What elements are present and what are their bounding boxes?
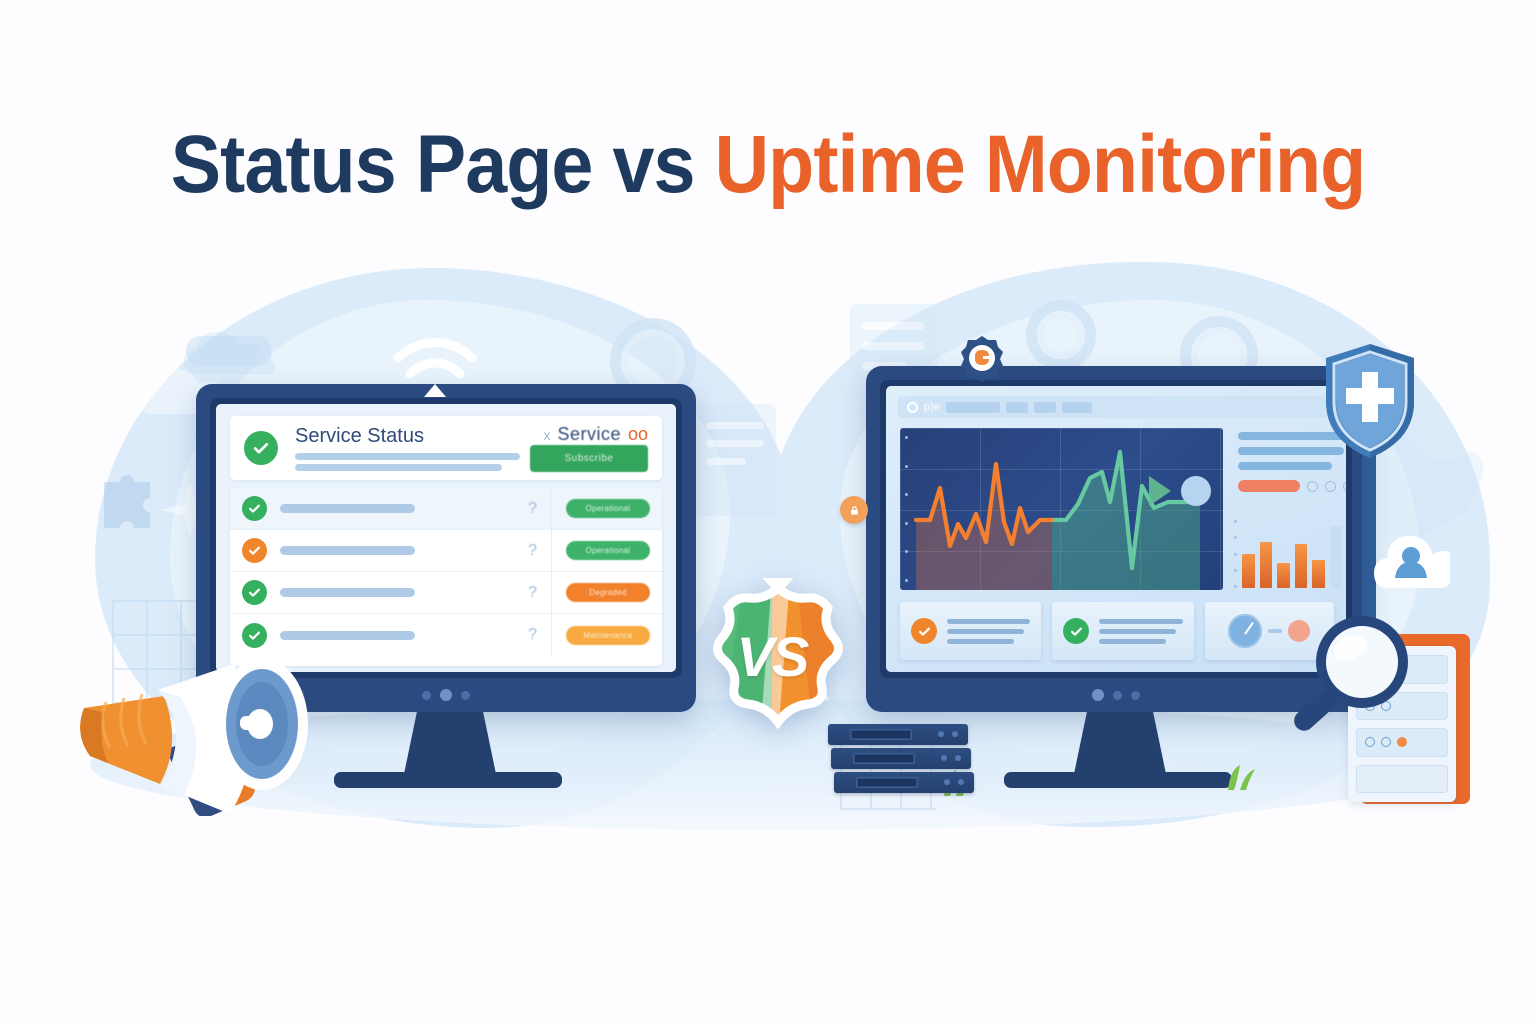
status-check-icon xyxy=(242,496,267,521)
skeleton-line xyxy=(1099,619,1182,624)
bar xyxy=(1277,563,1290,588)
server-led-icon xyxy=(958,779,964,785)
bar xyxy=(1295,544,1308,588)
row-value: ? xyxy=(528,626,537,644)
server-unit xyxy=(831,748,971,769)
skeleton-line xyxy=(947,619,1030,624)
chin-dot-icon xyxy=(1113,691,1122,700)
chart-marker-dot xyxy=(1181,476,1211,506)
uptime-line-chart xyxy=(900,428,1223,590)
illustration-canvas: Status Page vs Uptime Monitoring Service… xyxy=(0,0,1536,1024)
browser-skeleton xyxy=(1006,402,1028,413)
browser-skeleton xyxy=(1062,402,1092,413)
magnifier-icon xyxy=(1286,608,1418,748)
row-label-skeleton xyxy=(280,504,415,513)
server-slot xyxy=(853,753,915,764)
monitor-neck-right xyxy=(1074,712,1166,774)
uptime-bar-chart xyxy=(1242,514,1346,588)
info-card[interactable] xyxy=(1052,602,1193,660)
skeleton-line xyxy=(947,629,1024,634)
row-divider xyxy=(551,530,552,571)
server-led-icon xyxy=(941,755,947,761)
server-slot xyxy=(856,777,918,788)
chin-dot-icon xyxy=(461,691,470,700)
metric-circle-icon xyxy=(1307,481,1318,492)
server-led-icon xyxy=(938,731,944,737)
bar xyxy=(1260,542,1273,588)
lock-icon xyxy=(840,496,868,524)
brand-dots: oo xyxy=(628,424,648,445)
alert-badge xyxy=(1238,480,1300,492)
title-part-1: Status Page xyxy=(171,119,593,210)
bar xyxy=(1242,554,1255,588)
info-card[interactable] xyxy=(900,602,1041,660)
table-row[interactable]: ? Operational xyxy=(230,488,662,530)
browser-url-text: p)e xyxy=(924,401,940,413)
row-divider xyxy=(551,572,552,613)
page-title: Status Page vs Uptime Monitoring xyxy=(61,118,1474,212)
row-value: ? xyxy=(528,584,537,602)
browser-skeleton xyxy=(1034,402,1056,413)
server-slot xyxy=(850,729,912,740)
row-label-skeleton xyxy=(280,546,415,555)
server-unit xyxy=(834,772,974,793)
status-check-icon xyxy=(242,580,267,605)
side-metric-row xyxy=(1238,480,1346,492)
bar xyxy=(1312,560,1325,588)
checklist-row[interactable] xyxy=(1356,765,1448,794)
skeleton-line xyxy=(1099,639,1166,644)
gear-decoration-right xyxy=(1026,300,1096,370)
server-led-icon xyxy=(952,731,958,737)
header-skeleton-bar xyxy=(295,464,502,471)
table-row[interactable]: ? Degraded xyxy=(230,572,662,614)
play-triangle-icon xyxy=(1149,476,1171,506)
info-card-lines xyxy=(1099,619,1182,644)
uptime-dashboard-screen: p)e xyxy=(886,386,1346,672)
info-card-lines xyxy=(947,619,1030,644)
bar-chart-y-ticks xyxy=(1234,520,1237,588)
metric-circle-icon xyxy=(1343,481,1346,492)
table-row[interactable]: ? Operational xyxy=(230,530,662,572)
bar-ghost xyxy=(1330,526,1343,588)
brand-x-mark: x xyxy=(543,427,550,443)
row-value: ? xyxy=(528,542,537,560)
skeleton-line xyxy=(1238,462,1332,470)
row-label-skeleton xyxy=(280,588,415,597)
row-value: ? xyxy=(528,500,537,518)
chin-dot-icon xyxy=(422,691,431,700)
server-led-icon xyxy=(944,779,950,785)
skeleton-line xyxy=(947,639,1014,644)
monitor-bezel-right: p)e xyxy=(880,380,1352,678)
puzzle-decoration xyxy=(96,462,166,532)
title-part-2: Uptime Monitoring xyxy=(715,119,1366,210)
brand-name: Service xyxy=(557,424,621,445)
grass-decoration xyxy=(1222,760,1266,790)
monitor-neck-left xyxy=(404,712,496,774)
user-avatar-icon xyxy=(1372,528,1450,600)
vs-label: VS xyxy=(686,578,858,738)
document-decoration-left xyxy=(690,400,780,520)
check-circle-icon xyxy=(911,618,937,644)
status-badge: Operational xyxy=(566,499,650,518)
chin-dot-icon xyxy=(440,689,452,701)
check-circle-icon xyxy=(244,431,278,465)
shield-cross-icon xyxy=(1322,342,1418,460)
title-connector: vs xyxy=(612,119,694,210)
status-page-screen: Service Status x Service oo Subscribe xyxy=(216,404,676,672)
vs-badge: VS xyxy=(686,578,858,738)
skeleton-line xyxy=(1099,629,1176,634)
status-check-icon xyxy=(242,538,267,563)
chin-dot-icon xyxy=(1092,689,1104,701)
monitor-base-right xyxy=(1004,772,1232,788)
status-badge: Operational xyxy=(566,541,650,560)
browser-circle-icon xyxy=(907,402,918,413)
check-circle-icon xyxy=(1063,618,1089,644)
subscribe-button[interactable]: Subscribe xyxy=(530,445,648,472)
row-divider xyxy=(551,614,552,656)
metric-circle-icon xyxy=(1325,481,1336,492)
megaphone-icon xyxy=(62,636,332,816)
browser-address-bar[interactable]: p)e xyxy=(898,396,1334,418)
status-badge: Maintenance xyxy=(566,626,650,645)
gear-badge-icon xyxy=(958,334,1006,382)
monitor-base-left xyxy=(334,772,562,788)
dashboard-info-cards xyxy=(900,602,1334,660)
browser-skeleton xyxy=(946,402,1000,413)
row-divider xyxy=(551,488,552,529)
wifi-icon xyxy=(392,336,478,402)
header-skeleton-bar xyxy=(295,453,520,460)
gauge-icon xyxy=(1228,614,1262,648)
status-badge: Degraded xyxy=(566,583,650,602)
service-status-header: Service Status x Service oo Subscribe xyxy=(230,416,662,480)
brand-logo: x Service oo xyxy=(543,424,648,445)
server-led-icon xyxy=(955,755,961,761)
connector-line xyxy=(1268,629,1282,633)
chin-dot-icon xyxy=(1131,691,1140,700)
